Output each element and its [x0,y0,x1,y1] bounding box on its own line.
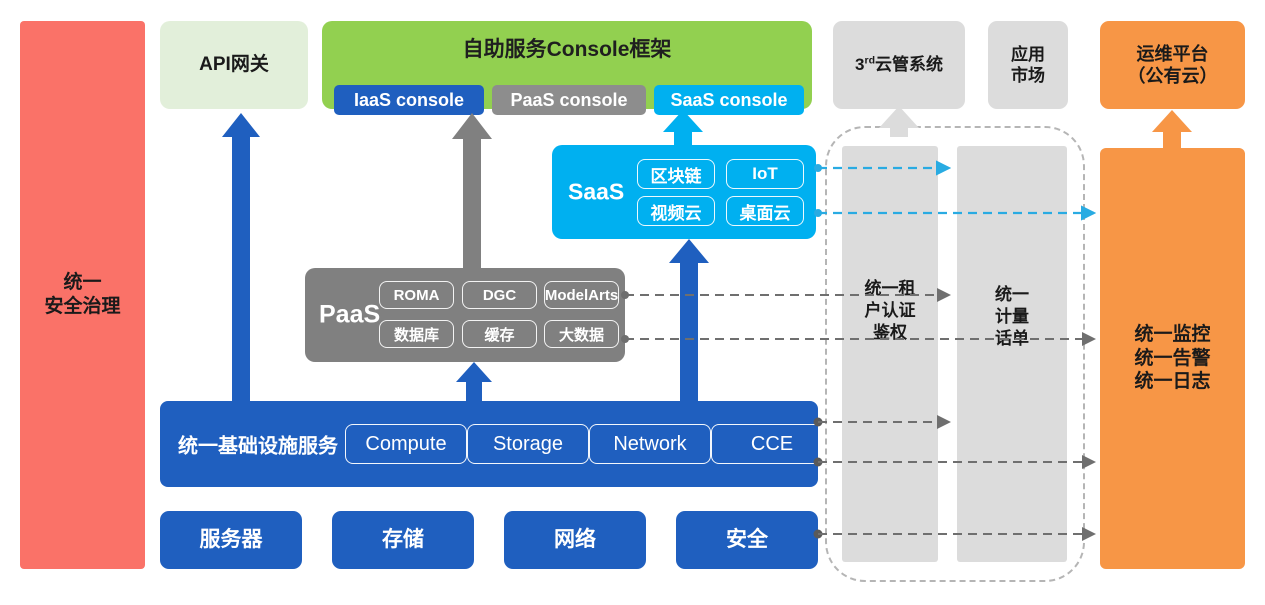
saas-console-label: SaaS console [670,89,787,112]
infrastructure-label: 统一基础设施服务 [178,430,338,459]
arrow-infra-to-paas [456,362,492,402]
third-party-cloud-management-box: 3rd云管系统 [833,21,965,109]
paas-item-cache[interactable]: 缓存 [462,320,537,348]
paas-item-database[interactable]: 数据库 [379,320,454,348]
third-party-label: 3rd云管系统 [855,54,943,75]
resource-box-security[interactable]: 安全 [676,511,818,569]
paas-item-bigdata[interactable]: 大数据 [544,320,619,348]
paas-console-chip[interactable]: PaaS console [492,85,646,115]
unified-metering-label: 统一计量话单 [957,284,1067,350]
resource-box-servers[interactable]: 服务器 [160,511,302,569]
resource-label-security: 安全 [726,527,768,553]
unified-tenant-auth-label: 统一租户认证鉴权 [842,278,938,344]
iaas-console-chip[interactable]: IaaS console [334,85,484,115]
unified-tenant-auth-column [842,146,938,562]
infra-item-cce[interactable]: CCE [711,424,833,464]
unified-metering-column [957,146,1067,562]
resource-box-network[interactable]: 网络 [504,511,646,569]
saas-label: SaaS [568,179,624,206]
saas-item-blockchain[interactable]: 区块链 [637,159,715,189]
paas-console-label: PaaS console [510,89,627,112]
arrow-infra-to-api-gateway [222,113,260,402]
saas-item-iot[interactable]: IoT [726,159,804,189]
arrow-paas-to-console [452,113,492,269]
ops-platform-box: 运维平台（公有云） [1100,21,1245,109]
unified-monitoring-panel: 统一监控统一告警统一日志 [1100,148,1245,569]
resource-label-servers: 服务器 [200,527,263,553]
infra-item-network[interactable]: Network [589,424,711,464]
architecture-diagram: 统一安全治理 API网关 自助服务Console框架 IaaS console … [0,0,1265,605]
saas-item-video-cloud[interactable]: 视频云 [637,196,715,226]
infra-item-compute[interactable]: Compute [345,424,467,464]
paas-item-modelarts[interactable]: ModelArts [544,281,619,309]
self-service-console-frame: 自助服务Console框架 IaaS console PaaS console … [322,21,812,109]
saas-item-desktop-cloud[interactable]: 桌面云 [726,196,804,226]
paas-block: PaaS ROMA DGC ModelArts 数据库 缓存 大数据 [305,268,625,362]
unified-infrastructure-bar: 统一基础设施服务 Compute Storage Network CCE [160,401,818,487]
api-gateway-label: API网关 [199,53,269,77]
arrow-infra-to-saas [669,239,709,402]
api-gateway-box: API网关 [160,21,308,109]
governance-label: 统一安全治理 [44,271,120,319]
arrow-saas-to-console [663,110,703,146]
infra-item-storage[interactable]: Storage [467,424,589,464]
console-frame-title: 自助服务Console框架 [322,37,812,63]
app-market-box: 应用市场 [988,21,1068,109]
paas-item-dgc[interactable]: DGC [462,281,537,309]
saas-console-chip[interactable]: SaaS console [654,85,804,115]
arrow-ops-panel-to-ops-platform [1152,110,1192,148]
iaas-console-label: IaaS console [354,89,464,112]
resource-label-network: 网络 [554,527,596,553]
saas-block: SaaS 区块链 IoT 视频云 桌面云 [552,145,816,239]
ops-platform-label: 运维平台（公有云） [1128,43,1218,88]
paas-label: PaaS [319,301,380,330]
resource-box-storage[interactable]: 存储 [332,511,474,569]
app-market-label: 应用市场 [1011,44,1045,87]
paas-item-roma[interactable]: ROMA [379,281,454,309]
unified-security-governance-panel: 统一安全治理 [20,21,145,569]
ops-panel-label: 统一监控统一告警统一日志 [1134,323,1210,394]
resource-label-storage: 存储 [382,527,424,553]
